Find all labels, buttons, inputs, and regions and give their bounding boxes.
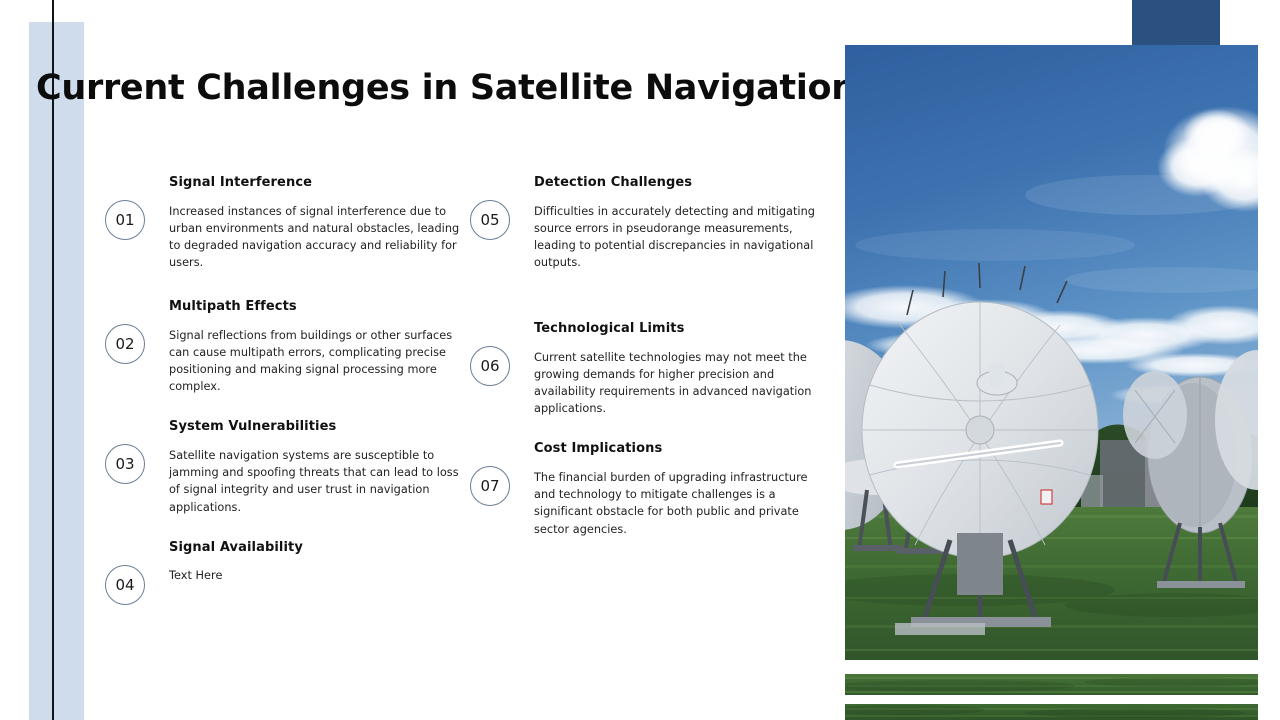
- item-title: System Vulnerabilities: [169, 419, 465, 435]
- satellite-dish-array-photo: [845, 45, 1258, 660]
- item-number-badge: 03: [105, 444, 145, 484]
- challenge-list-left: 01 Signal Interference Increased instanc…: [105, 175, 465, 584]
- grass-strip-photo: [845, 704, 1258, 720]
- list-item[interactable]: 06 Technological Limits Current satellit…: [470, 321, 830, 417]
- item-number-badge: 05: [470, 200, 510, 240]
- item-description: Current satellite technologies may not m…: [534, 349, 830, 418]
- list-item[interactable]: 07 Cost Implications The financial burde…: [470, 441, 830, 537]
- item-description: The financial burden of upgrading infras…: [534, 469, 830, 538]
- spacer: [105, 516, 465, 540]
- item-title: Technological Limits: [534, 321, 830, 337]
- item-number-badge: 06: [470, 346, 510, 386]
- grass-strip-photo: [845, 674, 1258, 695]
- slide-canvas: Current Challenges in Satellite Navigati…: [0, 0, 1280, 720]
- item-title: Detection Challenges: [534, 175, 830, 191]
- item-number-badge: 04: [105, 565, 145, 605]
- list-item[interactable]: 04 Signal Availability Text Here: [105, 540, 465, 585]
- item-description: Signal reflections from buildings or oth…: [169, 327, 465, 396]
- spacer: [470, 271, 830, 321]
- item-description: Text Here: [169, 567, 465, 584]
- item-title: Signal Availability: [169, 540, 465, 556]
- spacer: [470, 417, 830, 441]
- list-item[interactable]: 05 Detection Challenges Difficulties in …: [470, 175, 830, 271]
- item-title: Signal Interference: [169, 175, 465, 191]
- item-description: Satellite navigation systems are suscept…: [169, 447, 465, 516]
- challenge-list-right: 05 Detection Challenges Difficulties in …: [470, 175, 830, 538]
- item-title: Multipath Effects: [169, 299, 465, 315]
- item-number-badge: 07: [470, 466, 510, 506]
- item-number-badge: 01: [105, 200, 145, 240]
- spacer: [105, 271, 465, 299]
- left-vertical-line: [52, 0, 54, 720]
- top-right-accent-block: [1132, 0, 1220, 45]
- list-item[interactable]: 01 Signal Interference Increased instanc…: [105, 175, 465, 271]
- list-item[interactable]: 02 Multipath Effects Signal reflections …: [105, 299, 465, 395]
- item-title: Cost Implications: [534, 441, 830, 457]
- spacer: [105, 395, 465, 419]
- list-item[interactable]: 03 System Vulnerabilities Satellite navi…: [105, 419, 465, 515]
- page-title: Current Challenges in Satellite Navigati…: [36, 68, 856, 108]
- item-description: Difficulties in accurately detecting and…: [534, 203, 830, 272]
- item-number-badge: 02: [105, 324, 145, 364]
- item-description: Increased instances of signal interferen…: [169, 203, 465, 272]
- left-accent-bar: [29, 22, 84, 720]
